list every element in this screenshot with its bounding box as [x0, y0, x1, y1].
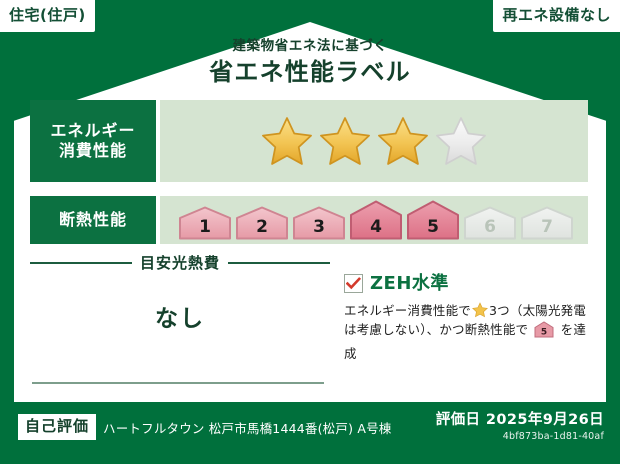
- self-evaluation-badge: 自己評価: [18, 414, 96, 440]
- lower-section: 目安光熱費 なし ZEH水準 エネルギー消費性能で 3つ（太陽光発電 は考: [30, 252, 588, 392]
- rule-right: [228, 262, 330, 264]
- inline-grade-badge: 5: [530, 326, 558, 341]
- zeh-block: ZEH水準 エネルギー消費性能で 3つ（太陽光発電 は考慮しない）、かつ断熱性能…: [330, 252, 588, 392]
- footer-bar: 自己評価 ハートフルタウン 松戸市馬橋1444番(松戸) A号棟 評価日 202…: [0, 402, 620, 464]
- star-empty-icon: [435, 115, 487, 167]
- energy-performance-label-line2: 消費性能: [59, 141, 127, 161]
- star-filled-icon: [319, 115, 371, 167]
- insulation-performance-value: 1234567: [160, 196, 588, 244]
- insulation-grade-7: 7: [520, 206, 574, 240]
- star-rating: [261, 115, 487, 167]
- insulation-grade-2: 2: [235, 206, 289, 240]
- evaluation-id: 4bf873ba-1d81-40af: [436, 431, 604, 442]
- inline-star-icon: [472, 302, 488, 318]
- zeh-desc-part2: 3つ（太陽光発電: [489, 303, 586, 318]
- insulation-grade-1: 1: [178, 206, 232, 240]
- insulation-performance-row: 断熱性能 1234567: [30, 196, 588, 244]
- star-filled-icon: [377, 115, 429, 167]
- star-filled-icon: [261, 115, 313, 167]
- inline-grade-value: 5: [541, 328, 547, 338]
- grade-value: 6: [463, 219, 517, 236]
- insulation-performance-label: 断熱性能: [30, 196, 156, 244]
- energy-cost-block: 目安光熱費 なし: [30, 252, 330, 392]
- zeh-header: ZEH水準: [344, 274, 588, 293]
- footer-right-group: 評価日 2025年9月26日 4bf873ba-1d81-40af: [436, 412, 604, 442]
- insulation-grade-6: 6: [463, 206, 517, 240]
- inline-grade-icon: 5: [534, 321, 554, 338]
- rule-left: [30, 262, 132, 264]
- insulation-grade-scale: 1234567: [178, 200, 574, 240]
- energy-cost-bottom-rule: [32, 382, 324, 384]
- grade-value: 1: [178, 219, 232, 236]
- zeh-desc-part3: は考慮しない）、かつ断熱性能で: [344, 322, 528, 337]
- energy-cost-header: 目安光熱費: [30, 252, 330, 273]
- energy-label-root: 住宅(住戸) 再エネ設備なし 建築物省エネ法に基づく 省エネ性能ラベル エネルギ…: [0, 0, 620, 464]
- energy-performance-label: エネルギー 消費性能: [30, 100, 156, 182]
- grade-value: 3: [292, 219, 346, 236]
- grade-value: 5: [406, 219, 460, 236]
- energy-cost-title: 目安光熱費: [140, 252, 220, 273]
- check-icon: [346, 277, 361, 290]
- energy-performance-label-line1: エネルギー: [50, 121, 135, 141]
- energy-performance-value: [160, 100, 588, 182]
- zeh-title: ZEH水準: [370, 275, 449, 293]
- zeh-description: エネルギー消費性能で 3つ（太陽光発電 は考慮しない）、かつ断熱性能で 5 を達…: [344, 301, 588, 363]
- grade-value: 2: [235, 219, 289, 236]
- renewable-energy-tag: 再エネ設備なし: [493, 0, 620, 32]
- evaluation-date: 評価日 2025年9月26日: [436, 412, 604, 429]
- zeh-desc-part1: エネルギー消費性能で: [344, 303, 471, 318]
- zeh-checkbox[interactable]: [344, 274, 363, 293]
- grade-value: 7: [520, 219, 574, 236]
- property-name: ハートフルタウン 松戸市馬橋1444番(松戸) A号棟: [103, 418, 391, 437]
- insulation-grade-3: 3: [292, 206, 346, 240]
- footer-left-group: 自己評価 ハートフルタウン 松戸市馬橋1444番(松戸) A号棟: [18, 414, 391, 440]
- energy-cost-value: なし: [30, 299, 330, 333]
- energy-performance-row: エネルギー 消費性能: [30, 100, 588, 182]
- building-type-tag: 住宅(住戸): [0, 0, 95, 32]
- insulation-grade-5: 5: [406, 200, 460, 240]
- grade-value: 4: [349, 219, 403, 236]
- insulation-grade-4: 4: [349, 200, 403, 240]
